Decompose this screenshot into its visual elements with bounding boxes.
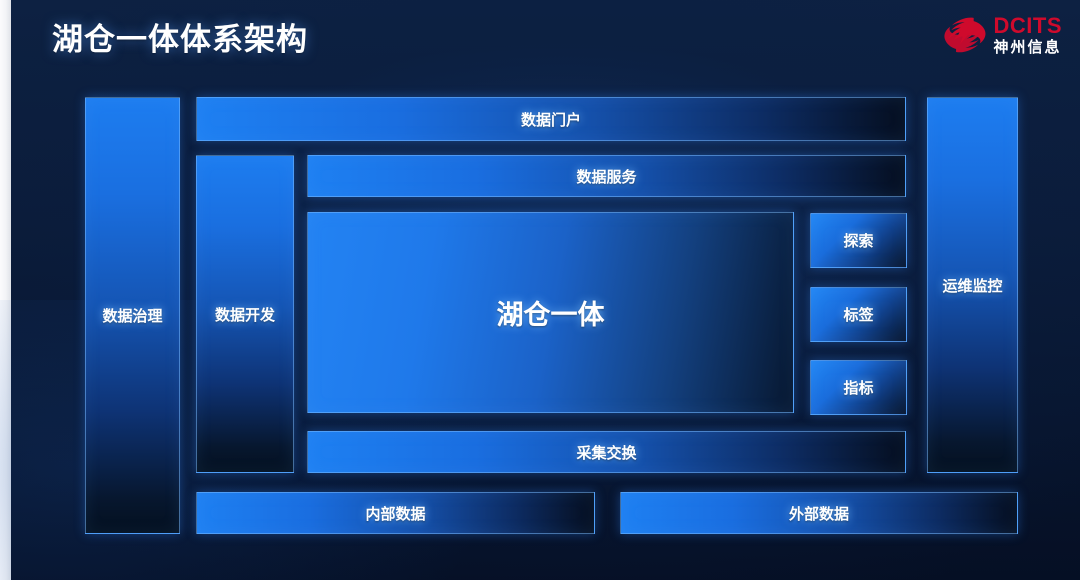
brand-wordmark: DCITS 神州信息 xyxy=(994,15,1063,55)
block-data-service[interactable]: 数据服务 xyxy=(307,155,906,197)
block-explore-label: 探索 xyxy=(843,230,873,251)
brand-logo: DCITS 神州信息 xyxy=(943,14,1063,56)
block-lakehouse-core[interactable]: 湖仓一体 xyxy=(307,212,794,413)
block-data-governance-label: 数据治理 xyxy=(102,305,162,326)
left-edge-strip xyxy=(0,0,11,580)
block-external-data-label: 外部数据 xyxy=(789,503,849,524)
block-data-development-label: 数据开发 xyxy=(215,304,275,325)
block-data-portal[interactable]: 数据门户 xyxy=(196,97,906,141)
block-metric-label: 指标 xyxy=(843,377,873,398)
slide-canvas: 湖仓一体体系架构 DCITS 神州信息 数据治理 数据开发 数据门户 数据服务 … xyxy=(0,0,1080,580)
block-ops-monitoring-label: 运维监控 xyxy=(942,275,1002,296)
dcits-swirl-logo-icon xyxy=(943,14,987,56)
block-external-data[interactable]: 外部数据 xyxy=(620,492,1018,534)
block-collect-exchange[interactable]: 采集交换 xyxy=(307,431,906,473)
block-ops-monitoring[interactable]: 运维监控 xyxy=(927,97,1018,473)
block-data-development[interactable]: 数据开发 xyxy=(196,155,294,473)
block-internal-data[interactable]: 内部数据 xyxy=(196,492,595,534)
block-tag-label: 标签 xyxy=(843,304,873,325)
block-data-portal-label: 数据门户 xyxy=(521,109,581,130)
block-data-governance[interactable]: 数据治理 xyxy=(85,97,180,534)
block-lakehouse-core-label: 湖仓一体 xyxy=(497,293,605,332)
block-collect-exchange-label: 采集交换 xyxy=(576,442,636,463)
brand-english-name: DCITS xyxy=(994,15,1063,37)
block-tag[interactable]: 标签 xyxy=(810,287,907,342)
block-data-service-label: 数据服务 xyxy=(576,166,636,187)
page-title: 湖仓一体体系架构 xyxy=(52,14,308,59)
brand-chinese-name: 神州信息 xyxy=(994,40,1063,55)
block-internal-data-label: 内部数据 xyxy=(365,503,425,524)
block-explore[interactable]: 探索 xyxy=(810,213,907,268)
block-metric[interactable]: 指标 xyxy=(810,360,907,415)
